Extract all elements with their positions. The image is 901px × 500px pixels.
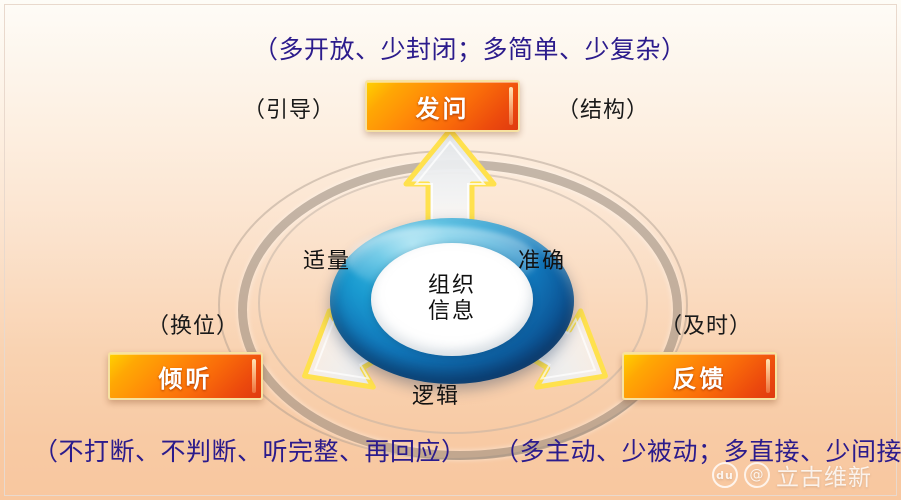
ring-label-right: 准确	[518, 243, 566, 275]
qualifier-swap-position: （换位）	[147, 308, 239, 340]
node-button-feedback[interactable]: 反馈	[622, 352, 777, 400]
slide-canvas: 组织 信息 适量 准确 逻辑 发问 倾听 反馈 （引导） （结构） （换位） （…	[0, 0, 901, 500]
caption-bottom-left: （不打断、不判断、听完整、再回应）	[33, 432, 467, 468]
qualifier-timely: （及时）	[660, 308, 752, 340]
node-button-listen[interactable]: 倾听	[108, 352, 263, 400]
node-button-ask[interactable]: 发问	[365, 80, 520, 132]
center-label-line1: 组织	[428, 274, 476, 299]
caption-bottom-right: （多主动、少被动；多直接、少间接）	[494, 432, 901, 468]
qualifier-structure: （结构）	[557, 92, 649, 124]
center-label-line2: 信息	[428, 300, 476, 325]
torus-center-disc: 组织 信息	[371, 243, 532, 356]
ring-label-left: 适量	[303, 243, 351, 275]
ring-label-bottom: 逻辑	[412, 378, 460, 410]
qualifier-guide: （引导）	[243, 92, 335, 124]
caption-top: （多开放、少封闭；多简单、少复杂）	[253, 30, 687, 66]
center-label: 组织 信息	[371, 243, 532, 356]
